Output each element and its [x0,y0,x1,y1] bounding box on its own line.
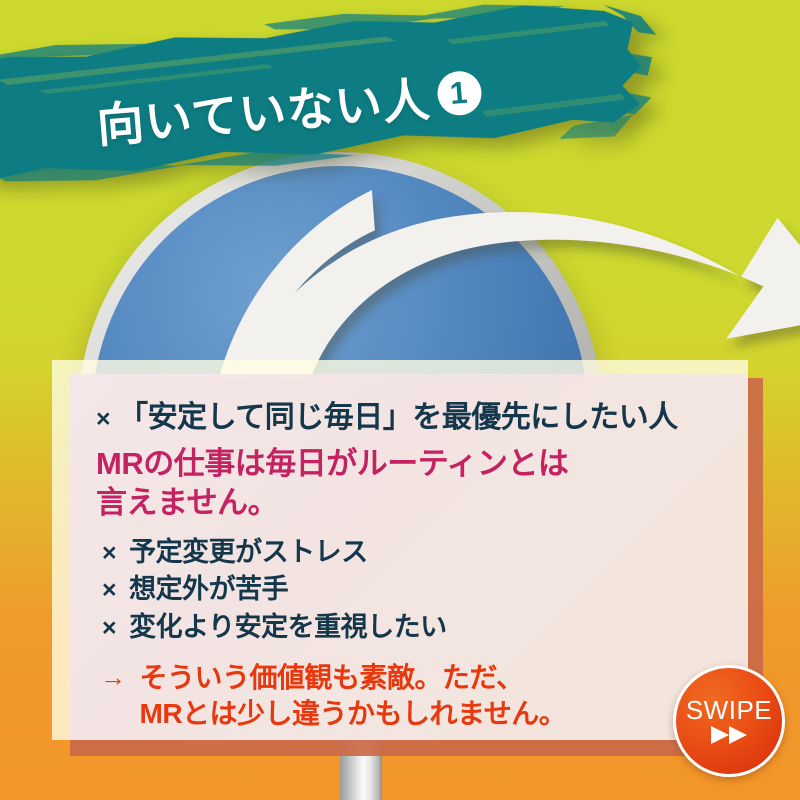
x-mark-icon: × [96,405,110,434]
list-item: × 想定外が苦手 [96,571,726,608]
conclusion-line-2: MRとは少し違うかもしれません。 [140,696,567,732]
list-item: × 予定変更がストレス [96,534,726,571]
slide-canvas: 向いていない人 1 × 「安定して同じ毎日」を最優先にしたい人 MRの仕事は毎日… [0,0,800,800]
right-arrow-icon: → [100,660,126,695]
bullet-list: × 予定変更がストレス × 想定外が苦手 × 変化より安定を重視したい [96,534,726,646]
lead-line: × 「安定して同じ毎日」を最優先にしたい人 [96,392,726,436]
circled-number-one-icon: 1 [435,69,482,116]
x-mark-icon: × [102,536,116,571]
emphasis-block: MRの仕事は毎日がルーティンとは 言えません。 [96,444,726,522]
content-card-inner: × 「安定して同じ毎日」を最優先にしたい人 MRの仕事は毎日がルーティンとは 言… [70,374,748,740]
list-item: × 変化より安定を重視したい [96,609,726,646]
x-mark-icon: × [102,573,116,608]
content-card: × 「安定して同じ毎日」を最優先にしたい人 MRの仕事は毎日がルーティンとは 言… [52,360,748,740]
emphasis-line-1: MRの仕事は毎日がルーティンとは [96,444,726,483]
lead-line-text: 「安定して同じ毎日」を最優先にしたい人 [118,392,678,436]
swipe-button[interactable]: SWIPE [673,665,785,777]
conclusion-text: そういう価値観も素敵。ただ、 MRとは少し違うかもしれません。 [140,660,567,733]
fast-forward-icon [707,724,751,746]
emphasis-line-2: 言えません。 [96,483,726,522]
x-mark-icon: × [102,611,116,646]
bullet-text: 想定外が苦手 [129,571,288,608]
conclusion-line-1: そういう価値観も素敵。ただ、 [140,660,567,696]
swipe-label: SWIPE [686,697,772,723]
bullet-text: 予定変更がストレス [129,534,368,571]
conclusion-block: → そういう価値観も素敵。ただ、 MRとは少し違うかもしれません。 [96,660,726,733]
bullet-text: 変化より安定を重視したい [129,609,446,646]
